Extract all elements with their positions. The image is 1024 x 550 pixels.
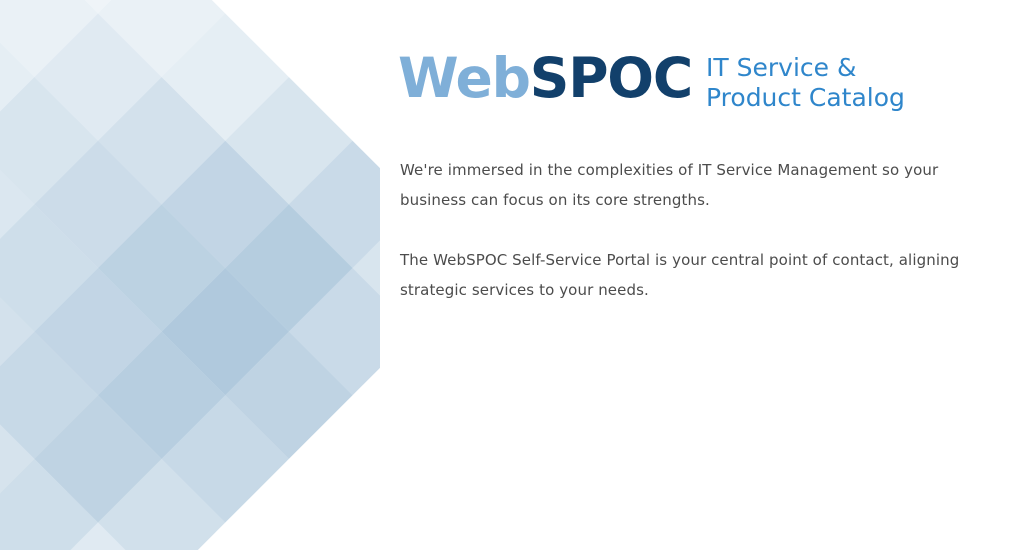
brand-tagline: IT Service & Product Catalog <box>706 44 905 112</box>
brand-logo-lockup: WebSPOC IT Service & Product Catalog <box>398 44 905 112</box>
diamond-grid <box>0 0 380 550</box>
diamond-svg <box>0 0 380 550</box>
intro-paragraph-1: We're immersed in the complexities of IT… <box>400 155 980 215</box>
wordmark-web-text: Web <box>398 46 530 110</box>
tagline-line-1: IT Service & <box>706 53 856 82</box>
content-column: WebSPOC IT Service & Product Catalog We'… <box>398 0 998 550</box>
websspoc-wordmark: WebSPOC <box>398 51 692 106</box>
intro-paragraph-2: The WebSPOC Self-Service Portal is your … <box>400 245 980 305</box>
wordmark-spoc-text: SPOC <box>530 46 692 110</box>
tagline-line-2: Product Catalog <box>706 83 905 113</box>
decorative-diamond-graphic <box>0 0 380 550</box>
body-copy: We're immersed in the complexities of IT… <box>400 155 980 305</box>
page-root: WebSPOC IT Service & Product Catalog We'… <box>0 0 1024 550</box>
